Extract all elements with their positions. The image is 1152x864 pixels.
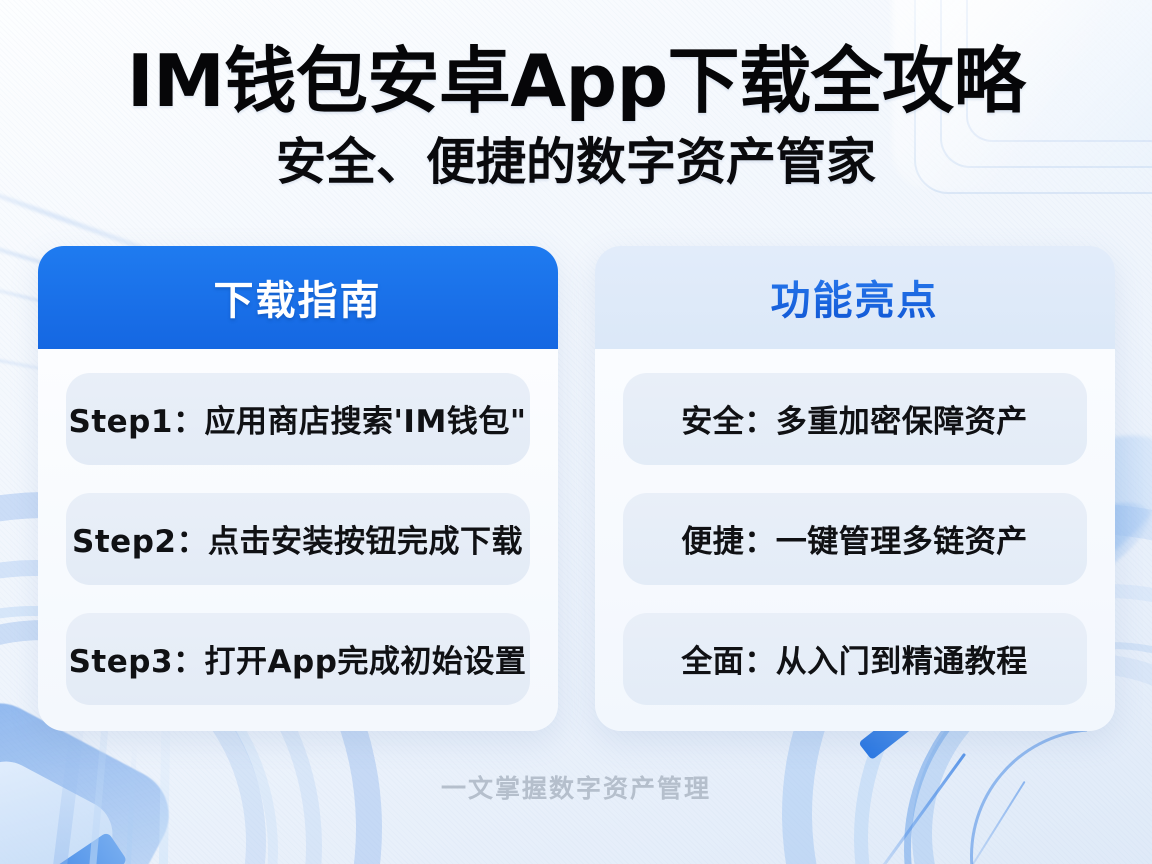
feature-3-text: 从入门到精通教程 [776, 644, 1028, 680]
footer-tagline: 一文掌握数字资产管理 [441, 774, 711, 803]
features-card-title: 功能亮点 [771, 268, 939, 326]
step-3-text: Step3：打开App完成初始设置 [69, 636, 527, 681]
step-1-text: Step1：应用商店搜索'IM钱包" [69, 396, 527, 441]
list-item[interactable]: Step1：应用商店搜索'IM钱包" [66, 373, 530, 465]
list-item[interactable]: 全面：从入门到精通教程 [623, 613, 1087, 705]
poster-canvas: IM钱包安卓App下载全攻略 安全、便捷的数字资产管家 下载指南 Step1：应… [0, 0, 1152, 864]
feature-highlights-card: 功能亮点 安全：多重加密保障资产 便捷：一键管理多链资产 全面：从入门到精通教程 [595, 246, 1115, 731]
list-item[interactable]: 安全：多重加密保障资产 [623, 373, 1087, 465]
feature-2: 便捷：一键管理多链资产 [681, 516, 1028, 561]
list-item[interactable]: 便捷：一键管理多链资产 [623, 493, 1087, 585]
feature-1-text: 多重加密保障资产 [776, 404, 1028, 440]
list-item[interactable]: Step2：点击安装按钮完成下载 [66, 493, 530, 585]
feature-1: 安全：多重加密保障资产 [681, 396, 1028, 441]
download-guide-card: 下载指南 Step1：应用商店搜索'IM钱包" Step2：点击安装按钮完成下载… [38, 246, 558, 731]
poster-footer: 一文掌握数字资产管理 [0, 769, 1152, 805]
feature-1-label: 安全： [681, 404, 776, 440]
download-card-body: Step1：应用商店搜索'IM钱包" Step2：点击安装按钮完成下载 Step… [38, 349, 558, 731]
feature-2-label: 便捷： [681, 524, 776, 560]
feature-3: 全面：从入门到精通教程 [681, 636, 1028, 681]
page-subtitle: 安全、便捷的数字资产管家 [0, 135, 1152, 190]
page-title: IM钱包安卓App下载全攻略 [0, 44, 1152, 119]
download-card-header: 下载指南 [38, 246, 558, 349]
download-card-title: 下载指南 [214, 268, 382, 326]
feature-3-label: 全面： [681, 644, 776, 680]
cards-row: 下载指南 Step1：应用商店搜索'IM钱包" Step2：点击安装按钮完成下载… [0, 246, 1152, 731]
feature-2-text: 一键管理多链资产 [776, 524, 1028, 560]
features-card-header: 功能亮点 [595, 246, 1115, 349]
poster-header: IM钱包安卓App下载全攻略 安全、便捷的数字资产管家 [0, 0, 1152, 190]
step-2-text: Step2：点击安装按钮完成下载 [72, 516, 523, 561]
list-item[interactable]: Step3：打开App完成初始设置 [66, 613, 530, 705]
features-card-body: 安全：多重加密保障资产 便捷：一键管理多链资产 全面：从入门到精通教程 [595, 349, 1115, 731]
